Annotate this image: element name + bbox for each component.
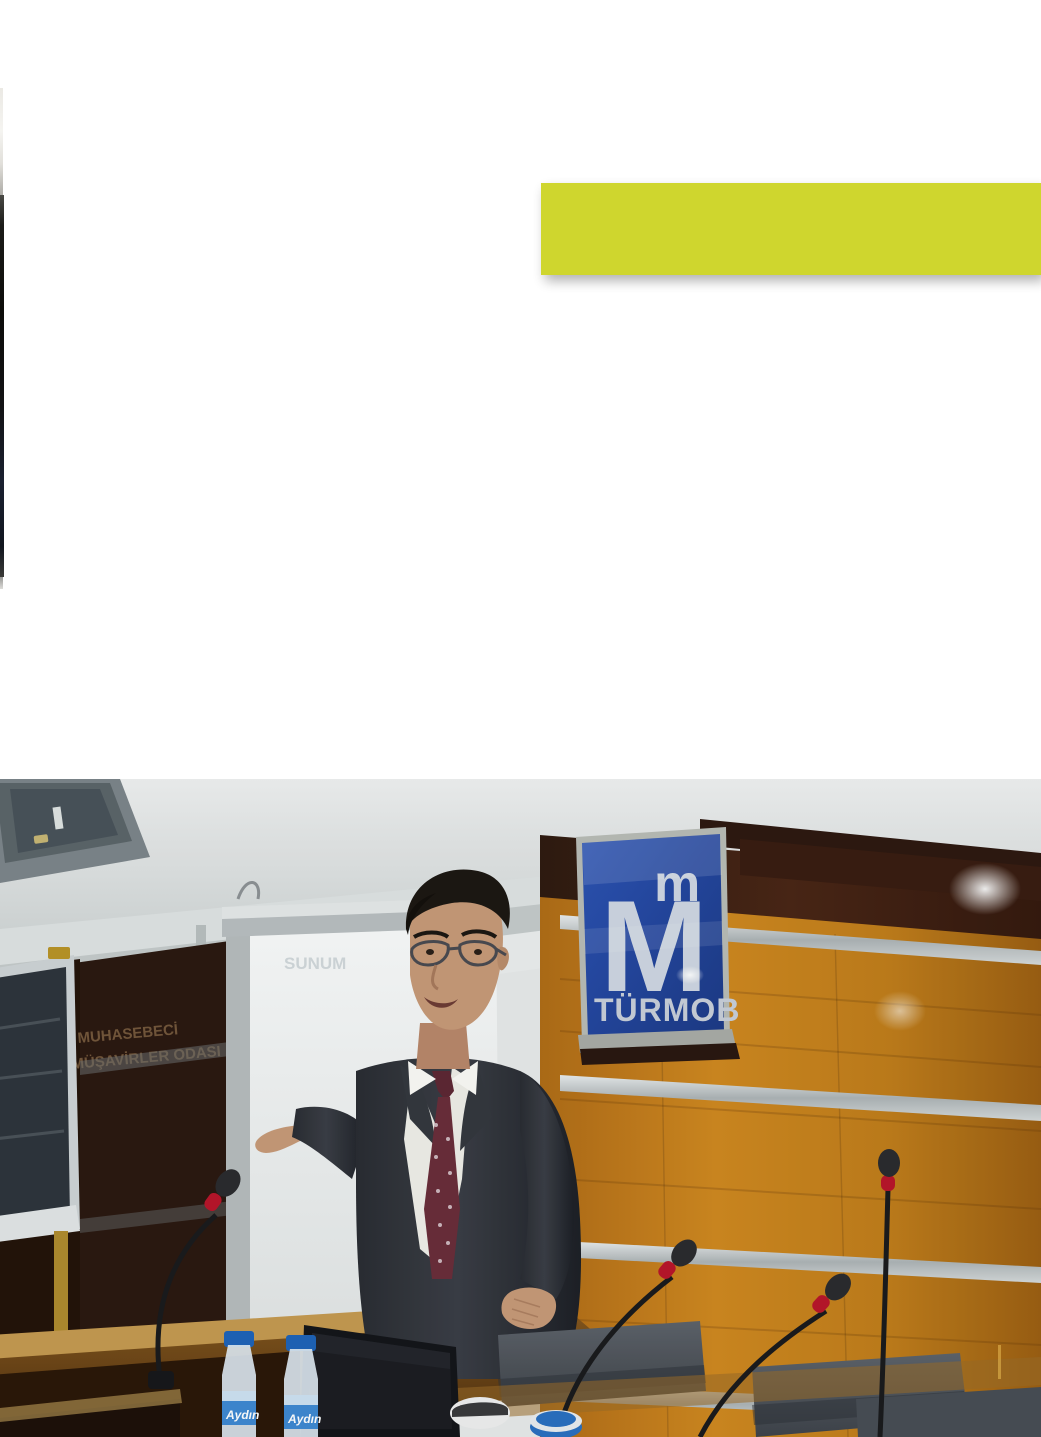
slide-page: M m TÜRMOB MUHASEBECİ MÜŞAVİRLER ODASI <box>0 0 1041 1437</box>
title-banner <box>541 183 1041 275</box>
conference-room-presentation-photo: M m TÜRMOB MUHASEBECİ MÜŞAVİRLER ODASI <box>0 779 1041 1437</box>
cropped-photo-sliver-bottom <box>0 577 3 589</box>
cropped-photo-sliver <box>0 195 4 577</box>
cropped-photo-sliver-top <box>0 88 3 196</box>
photo-illustration: M m TÜRMOB MUHASEBECİ MÜŞAVİRLER ODASI <box>0 779 1041 1437</box>
title-banner-wrapper <box>541 183 1041 275</box>
